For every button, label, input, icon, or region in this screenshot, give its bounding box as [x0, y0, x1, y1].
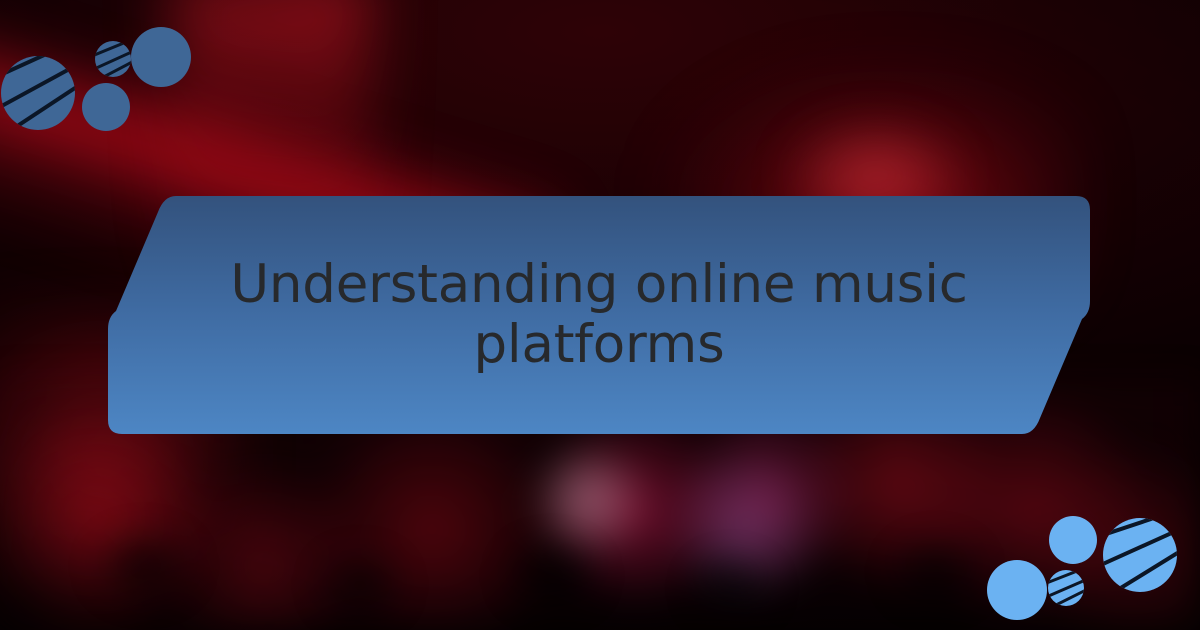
circle-large-striped-icon	[0, 36, 86, 148]
banner-title: Understanding online music platforms	[168, 196, 1030, 434]
title-banner: Understanding online music platforms	[108, 196, 1090, 434]
decorative-circles-top-left	[0, 0, 220, 160]
circle-large-plain-icon	[987, 560, 1047, 620]
circle-medium-plain-icon	[1049, 516, 1097, 564]
poster-canvas: Understanding online music platforms	[0, 0, 1200, 630]
decorative-circles-bottom-right	[970, 460, 1200, 630]
circle-small-striped-icon	[1044, 566, 1090, 610]
circle-medium-plain-icon	[82, 83, 130, 131]
circle-large-striped-icon	[1094, 504, 1196, 602]
circle-large-plain-icon	[131, 27, 191, 87]
circle-small-striped-icon	[92, 38, 136, 82]
